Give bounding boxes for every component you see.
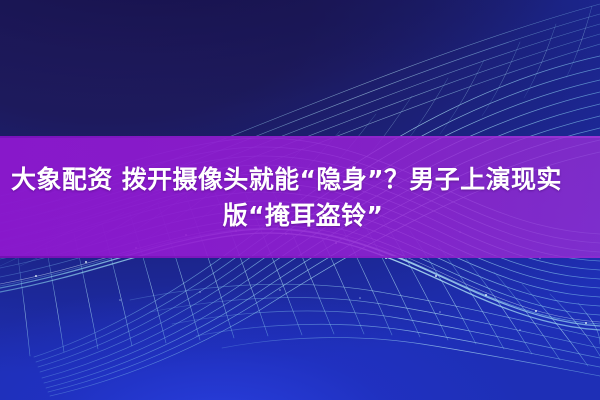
banner-image: 大象配资 拨开摄像头就能“隐身”？男子上演现实 版“掩耳盗铃”	[0, 0, 600, 400]
headline-line-2: 版“掩耳盗铃”	[217, 200, 384, 231]
headline-block: 大象配资 拨开摄像头就能“隐身”？男子上演现实 版“掩耳盗铃”	[0, 136, 600, 258]
headline-line-1: 大象配资 拨开摄像头就能“隐身”？男子上演现实	[0, 164, 562, 195]
